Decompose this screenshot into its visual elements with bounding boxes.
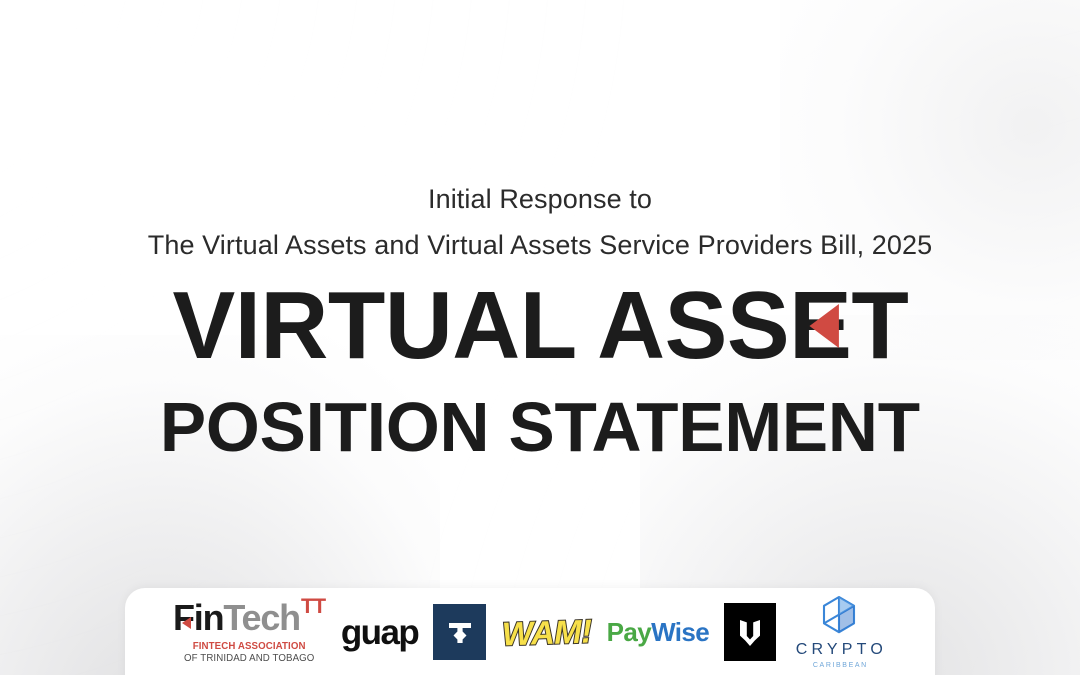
logo-black-square-brand — [724, 603, 776, 661]
logo-guap: guap — [341, 615, 418, 650]
logo-crypto-caribbean: CRYPTO CARIBBEAN — [792, 595, 887, 669]
crypto-wordmark: CRYPTO — [792, 642, 887, 658]
headline-line-1-suffix: T — [851, 278, 908, 374]
paywise-wise-text: Wise — [651, 617, 709, 647]
slide-content: Initial Response to The Virtual Assets a… — [0, 0, 1080, 675]
partner-logo-card: FinTechTT FINTECH ASSOCIATION OF TRINIDA… — [125, 588, 935, 675]
slide-canvas: Initial Response to The Virtual Assets a… — [0, 0, 1080, 675]
fintech-subtitle-country: OF TRINIDAD AND TOBAGO — [184, 654, 314, 664]
crypto-cube-icon — [820, 595, 858, 635]
black-v-mark-icon — [738, 617, 762, 647]
wam-wordmark: WAM! — [501, 614, 592, 650]
paywise-wordmark: PayWise — [607, 619, 710, 645]
subtitle-line-2: The Virtual Assets and Virtual Assets Se… — [0, 228, 1080, 263]
guap-wordmark: guap — [341, 615, 418, 650]
paywise-pay-text: Pay — [607, 617, 651, 647]
logo-wam: WAM! — [502, 616, 592, 649]
navy-square-tile — [433, 604, 486, 660]
fintech-subtitle-association: FINTECH ASSOCIATION — [193, 642, 306, 652]
headline-line-1-prefix: VIRTUAL ASS — [172, 278, 789, 374]
fintech-tt-superscript: TT — [301, 596, 326, 617]
navy-t-mark-icon — [447, 619, 473, 645]
fintech-in-text: in — [194, 600, 224, 636]
fintech-tech-text: Tech — [223, 600, 300, 636]
headline-block: VIRTUAL ASSET POSITION STATEMENT — [0, 278, 1080, 462]
crypto-subtitle: CARIBBEAN — [811, 662, 868, 669]
logo-navy-square-brand — [433, 604, 486, 660]
fintech-wordmark: FinTechTT — [173, 600, 326, 636]
headline-line-1: VIRTUAL ASSET — [172, 278, 908, 374]
headline-line-2: POSITION STATEMENT — [160, 392, 920, 462]
black-square-tile — [724, 603, 776, 661]
subtitle-line-1: Initial Response to — [0, 182, 1080, 217]
logo-paywise: PayWise — [607, 619, 710, 645]
red-triangle-accent-icon — [809, 304, 838, 348]
fintech-red-triangle-icon — [182, 617, 191, 629]
fintech-letter-f: F — [173, 600, 194, 636]
subtitle-block: Initial Response to The Virtual Assets a… — [0, 182, 1080, 262]
logo-fintech-tt: FinTechTT FINTECH ASSOCIATION OF TRINIDA… — [173, 600, 326, 664]
headline-e-with-accent: E — [789, 278, 851, 374]
